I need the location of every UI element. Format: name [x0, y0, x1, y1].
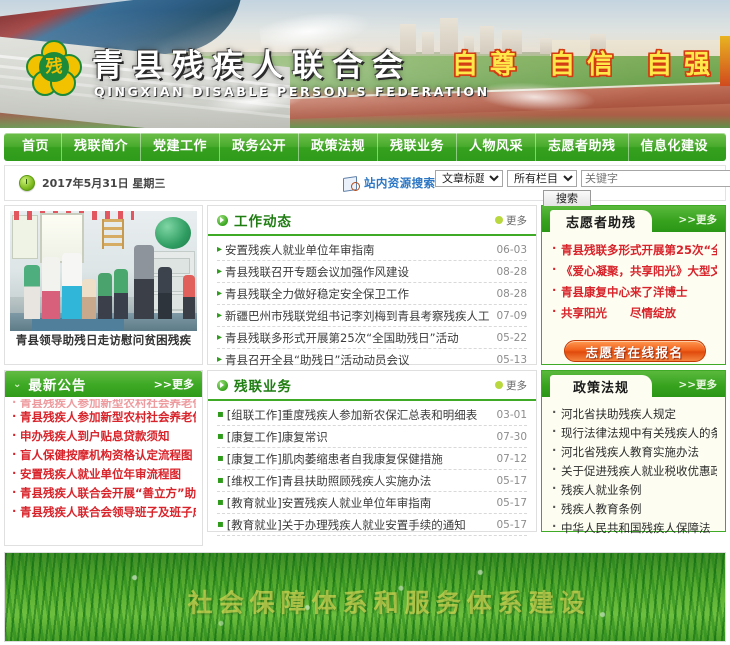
list-item[interactable]: 残疾人教育条例: [552, 500, 717, 519]
list-item-title[interactable]: 青县残联多形式开展第25次“全国助残日”活动: [225, 330, 490, 346]
list-item[interactable]: 河北省扶助残疾人规定: [552, 405, 717, 424]
list-item-date: 08-28: [496, 288, 527, 300]
list-item-title[interactable]: 青县残联全力做好稳定安全保卫工作: [225, 286, 490, 302]
main-content: 青县领导助残日走访慰问贫困残疾 ⌄ 最新公告 >>更多 青县残疾人参加新型农村社…: [4, 205, 726, 546]
main-navigation: 首页 残联简介 党建工作 政务公开 政策法规 残联业务 人物风采 志愿者助残 信…: [4, 133, 726, 161]
list-item[interactable]: 青县残联“百日攻坚”实施方案进村入户: [11, 522, 196, 530]
volunteer-title: 志愿者助残: [550, 210, 652, 232]
current-date: 2017年5月31日 星期三: [42, 175, 165, 191]
business-header: 残联业务 更多: [208, 371, 536, 401]
policy-list: 河北省扶助残疾人规定 现行法律法规中有关残疾人的条款 河北省残疾人教育实施办法 …: [542, 397, 725, 544]
announcement-header: ⌄ 最新公告 >>更多: [5, 371, 202, 397]
nav-item-informatization[interactable]: 信息化建设: [629, 133, 721, 161]
work-dynamics-panel: 工作动态 更多 ▸安置残疾人就业单位年审指南06-03 ▸青县残联召开专题会议加…: [207, 205, 537, 365]
announcement-panel: ⌄ 最新公告 >>更多 青县残疾人参加新型农村社会养老保险补 青县残疾人参加新型…: [4, 370, 203, 546]
list-item[interactable]: 申办残疾人到户贴息贷款须知: [11, 427, 196, 446]
list-item[interactable]: 中华人民共和国残疾人保障法: [552, 519, 717, 538]
clock-icon: [19, 175, 35, 191]
site-banner: 残 青县残疾人联合会 QINGXIAN DISABLE PERSON'S FED…: [0, 0, 730, 128]
work-dynamics-list: ▸安置残疾人就业单位年审指南06-03 ▸青县残联召开专题会议加强作风建设08-…: [208, 236, 536, 373]
search-label-group: 站内资源搜索: [343, 166, 435, 200]
nav-item-policy-regulations[interactable]: 政策法规: [299, 133, 378, 161]
list-item[interactable]: ▸青县残联多形式开展第25次“全国助残日”活动05-22: [217, 327, 527, 349]
exercise-ball: [155, 217, 191, 249]
bullet-icon: ▸: [217, 244, 222, 255]
list-item-title[interactable]: 安置残疾人就业单位年审指南: [225, 242, 490, 258]
list-item-title[interactable]: [组联工作]重度残疾人参加新农保汇总表和明细表: [227, 407, 491, 423]
list-item-title[interactable]: [教育就业]关于办理残疾人就业安置手续的通知: [227, 517, 491, 533]
list-item[interactable]: ▸新疆巴州市残联党组书记李刘梅到青县考察残疾人工作07-09: [217, 305, 527, 327]
policy-title: 政策法规: [550, 375, 652, 397]
list-item[interactable]: 青县残疾人联合会开展“善立方”助残活: [11, 484, 196, 503]
search-controls: 文章标题 所有栏目 搜索: [435, 170, 725, 187]
list-item-date: 06-03: [496, 244, 527, 256]
business-more-link[interactable]: 更多: [495, 378, 527, 393]
list-item[interactable]: 共享阳光 尽情绽放: [552, 303, 717, 324]
list-item-date: 05-13: [496, 354, 527, 366]
list-item-title[interactable]: 青县召开全县“助残日”活动动员会议: [225, 352, 490, 368]
page-root: 残 青县残疾人联合会 QINGXIAN DISABLE PERSON'S FED…: [0, 0, 730, 645]
list-item[interactable]: 青县残联多形式开展第25次“全国: [552, 240, 717, 261]
list-item[interactable]: 青县康复中心来了洋博士: [552, 282, 717, 303]
list-item-date: 05-17: [496, 497, 527, 509]
site-title-english: QINGXIAN DISABLE PERSON'S FEDERATION: [94, 84, 490, 99]
list-item-date: 07-12: [496, 453, 527, 465]
bullet-icon: ▪: [217, 497, 224, 508]
right-column: 志愿者助残 >>更多 青县残联多形式开展第25次“全国 《爱心凝聚，共享阳光》大…: [541, 205, 726, 532]
list-item[interactable]: ▪[教育就业]安置残疾人就业单位年审指南05-17: [217, 492, 527, 514]
list-item[interactable]: ▪[维权工作]青县扶助照顾残疾人实施办法05-17: [217, 470, 527, 492]
work-dynamics-more-link[interactable]: 更多: [495, 213, 527, 228]
federation-logo: 残: [26, 42, 82, 94]
nav-item-home[interactable]: 首页: [10, 133, 62, 161]
photo-card[interactable]: 青县领导助残日走访慰问贫困残疾: [4, 205, 203, 365]
list-item[interactable]: ▸青县残联召开专题会议加强作风建设08-28: [217, 261, 527, 283]
banner-slogan: 自尊 自信 自强 自立: [452, 44, 730, 81]
nav-item-people[interactable]: 人物风采: [457, 133, 536, 161]
volunteer-more-link[interactable]: >>更多: [678, 212, 717, 227]
bullet-arrow-icon: [217, 215, 228, 226]
list-item-title[interactable]: [维权工作]青县扶助照顾残疾人实施办法: [227, 473, 491, 489]
announcement-title: 最新公告: [28, 374, 86, 394]
list-item[interactable]: 现行法律法规中有关残疾人的条款: [552, 424, 717, 443]
bullet-icon: ▸: [217, 354, 222, 365]
bullet-icon: ▪: [217, 453, 224, 464]
list-item-date: 08-28: [496, 266, 527, 278]
volunteer-header: 志愿者助残 >>更多: [542, 206, 725, 232]
search-resource-icon: [343, 176, 359, 191]
left-column: 青县领导助残日走访慰问贫困残疾 ⌄ 最新公告 >>更多 青县残疾人参加新型农村社…: [4, 205, 203, 546]
list-item-title[interactable]: [教育就业]安置残疾人就业单位年审指南: [227, 495, 491, 511]
list-item-date: 05-17: [496, 519, 527, 531]
business-list: ▪[组联工作]重度残疾人参加新农保汇总表和明细表03-01 ▪[康复工作]康复常…: [208, 401, 536, 538]
date-display: 2017年5月31日 星期三: [5, 175, 165, 191]
bullet-icon: ▪: [217, 475, 224, 486]
list-item-date: 05-17: [496, 475, 527, 487]
bullet-icon: ▸: [217, 332, 222, 343]
list-item-title[interactable]: [康复工作]肌肉萎缩患者自我康复保健措施: [227, 451, 491, 467]
list-item-title[interactable]: [康复工作]康复常识: [227, 429, 491, 445]
bullet-arrow-icon: [217, 380, 228, 391]
bullet-icon: ▸: [217, 288, 222, 299]
search-column-select[interactable]: 所有栏目: [507, 170, 577, 187]
middle-column: 工作动态 更多 ▸安置残疾人就业单位年审指南06-03 ▸青县残联召开专题会议加…: [207, 205, 537, 532]
search-label: 站内资源搜索: [364, 175, 435, 191]
search-bar: 2017年5月31日 星期三 站内资源搜索 文章标题 所有栏目 搜索: [4, 165, 726, 201]
search-field-select[interactable]: 文章标题: [435, 170, 503, 187]
volunteer-register-button[interactable]: 志愿者在线报名: [564, 340, 706, 362]
bullet-icon: ▪: [217, 431, 224, 442]
list-item-title[interactable]: 青县残联召开专题会议加强作风建设: [225, 264, 490, 280]
logo-char: 残: [39, 52, 69, 82]
policy-more-link[interactable]: >>更多: [678, 377, 717, 392]
list-item[interactable]: 关于促进残疾人就业税收优惠政策: [552, 462, 717, 481]
list-item[interactable]: ▪[康复工作]康复常识07-30: [217, 426, 527, 448]
policy-panel: 政策法规 >>更多 河北省扶助残疾人规定 现行法律法规中有关残疾人的条款 河北省…: [541, 370, 726, 532]
announcement-more-link[interactable]: >>更多: [154, 376, 194, 392]
list-item[interactable]: ▸青县召开全县“助残日”活动动员会议05-13: [217, 349, 527, 371]
list-item[interactable]: 河北省残疾人教育实施办法: [552, 443, 717, 462]
list-item-date: 03-01: [496, 409, 527, 421]
footer-banner: 社会保障体系和服务体系建设: [4, 552, 726, 642]
bullet-icon: ▪: [217, 409, 224, 420]
announcement-list[interactable]: 青县残疾人参加新型农村社会养老保险补 青县残疾人参加新型农村社会养老保险补 申办…: [5, 397, 202, 545]
feature-photo[interactable]: [10, 211, 197, 331]
search-button[interactable]: 搜索: [543, 190, 591, 207]
list-item[interactable]: ▪[教育就业]关于办理残疾人就业安置手续的通知05-17: [217, 514, 527, 536]
site-title: 青县残疾人联合会: [92, 40, 412, 85]
business-panel: 残联业务 更多 ▪[组联工作]重度残疾人参加新农保汇总表和明细表03-01 ▪[…: [207, 370, 537, 532]
bullet-icon: ▸: [217, 310, 222, 321]
more-dot-icon: [495, 381, 503, 389]
list-item[interactable]: 青县残疾人联合会领导班子及班子成员作: [11, 503, 196, 522]
nav-item-business[interactable]: 残联业务: [378, 133, 457, 161]
footer-slogan: 社会保障体系和服务体系建设: [188, 583, 591, 619]
volunteer-panel: 志愿者助残 >>更多 青县残联多形式开展第25次“全国 《爱心凝聚，共享阳光》大…: [541, 205, 726, 365]
work-dynamics-header: 工作动态 更多: [208, 206, 536, 236]
list-item[interactable]: 残疾人就业条例: [552, 481, 717, 500]
work-dynamics-title: 工作动态: [234, 210, 292, 230]
nav-item-intro[interactable]: 残联简介: [62, 133, 141, 161]
nav-item-government-affairs[interactable]: 政务公开: [220, 133, 299, 161]
list-item[interactable]: 盲人保健按摩机构资格认定流程图: [11, 446, 196, 465]
policy-header: 政策法规 >>更多: [542, 371, 725, 397]
business-title: 残联业务: [234, 375, 292, 395]
list-item-title[interactable]: 新疆巴州市残联党组书记李刘梅到青县考察残疾人工作: [225, 308, 490, 324]
list-item[interactable]: 青县残疾人参加新型农村社会养老保险补: [11, 399, 196, 408]
bullet-icon: ▪: [217, 519, 224, 530]
chevron-icon: ⌄: [13, 379, 22, 390]
list-item[interactable]: ▸青县残联全力做好稳定安全保卫工作08-28: [217, 283, 527, 305]
volunteer-list: 青县残联多形式开展第25次“全国 《爱心凝聚，共享阳光》大型文艺 青县康复中心来…: [542, 232, 725, 374]
photo-caption: 青县领导助残日走访慰问贫困残疾: [10, 331, 197, 349]
list-item[interactable]: ▪[组联工作]重度残疾人参加新农保汇总表和明细表03-01: [217, 404, 527, 426]
list-item[interactable]: 《爱心凝聚，共享阳光》大型文艺: [552, 261, 717, 282]
list-item[interactable]: ▪[康复工作]肌肉萎缩患者自我康复保健措施07-12: [217, 448, 527, 470]
list-item-date: 07-30: [496, 431, 527, 443]
nav-item-volunteer[interactable]: 志愿者助残: [536, 133, 629, 161]
list-item[interactable]: ▸安置残疾人就业单位年审指南06-03: [217, 239, 527, 261]
list-item-date: 05-22: [496, 332, 527, 344]
more-dot-icon: [495, 216, 503, 224]
list-item[interactable]: 青县残疾人参加新型农村社会养老保险补: [11, 408, 196, 427]
list-item[interactable]: 安置残疾人就业单位年审流程图: [11, 465, 196, 484]
nav-item-party-building[interactable]: 党建工作: [141, 133, 220, 161]
list-item-date: 07-09: [496, 310, 527, 322]
bullet-icon: ▸: [217, 266, 222, 277]
search-input[interactable]: [581, 170, 730, 187]
